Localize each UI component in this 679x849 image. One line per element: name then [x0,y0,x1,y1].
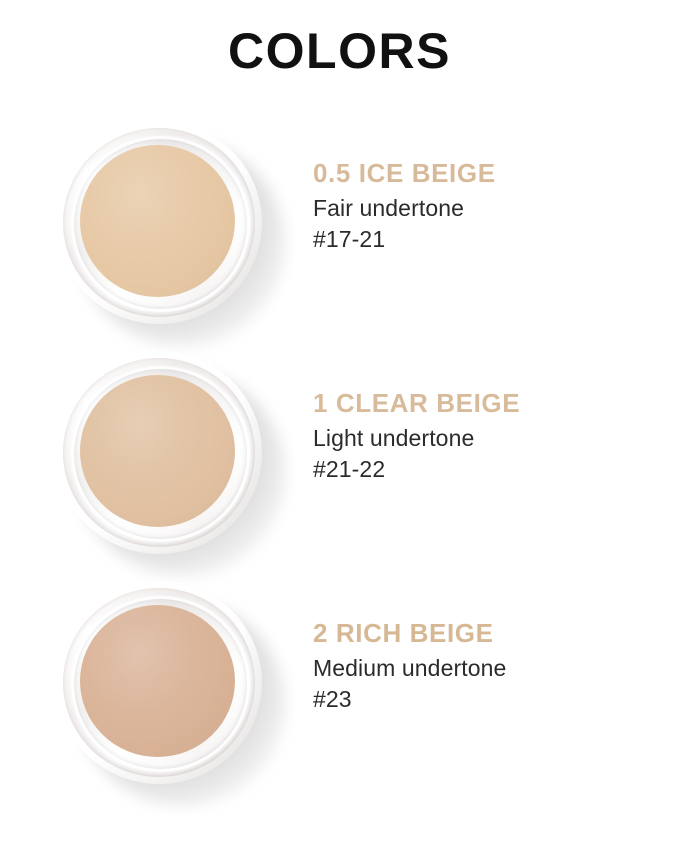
swatch-description: Fair undertone [313,193,643,224]
swatch-code: #23 [313,684,643,715]
swatch-row: 0.5 ICE BEIGE Fair undertone #17-21 [0,107,679,337]
colors-page: COLORS 0.5 ICE BEIGE Fair undertone #17-… [0,0,679,849]
swatch-row: 1 CLEAR BEIGE Light undertone #21-22 [0,337,679,567]
swatch-description: Medium undertone [313,653,643,684]
jar-cream-fill [80,605,235,757]
swatch-name: 2 RICH BEIGE [313,619,643,648]
product-jar [52,115,302,340]
swatch-text-block: 0.5 ICE BEIGE Fair undertone #17-21 [313,159,643,255]
jar-cream-fill [80,145,235,297]
page-title: COLORS [0,26,679,76]
swatch-description: Light undertone [313,423,643,454]
swatch-row: 2 RICH BEIGE Medium undertone #23 [0,567,679,797]
swatch-code: #21-22 [313,454,643,485]
swatch-text-block: 2 RICH BEIGE Medium undertone #23 [313,619,643,715]
swatch-text-block: 1 CLEAR BEIGE Light undertone #21-22 [313,389,643,485]
swatch-name: 0.5 ICE BEIGE [313,159,643,188]
swatch-code: #17-21 [313,224,643,255]
swatch-name: 1 CLEAR BEIGE [313,389,643,418]
jar-cream-fill [80,375,235,527]
product-jar [52,575,302,800]
product-jar [52,345,302,570]
